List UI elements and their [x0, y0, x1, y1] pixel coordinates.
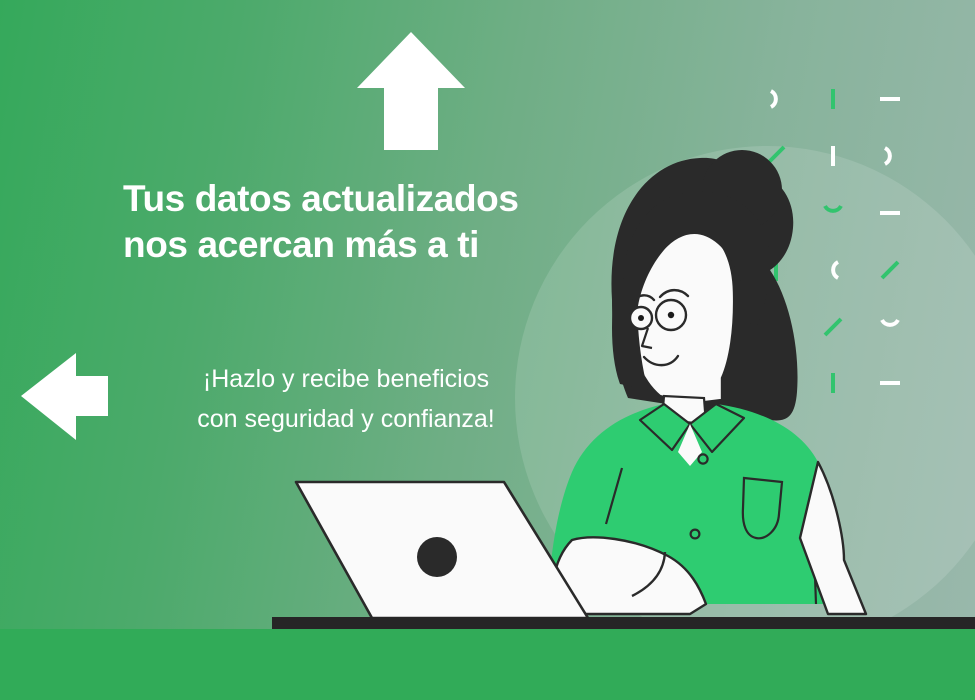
left-arrow-icon	[21, 353, 108, 440]
page-subtitle: ¡Hazlo y recibe beneficios con seguridad…	[136, 360, 556, 439]
promo-banner: Tus datos actualizados nos acercan más a…	[0, 0, 975, 700]
page-title: Tus datos actualizados nos acercan más a…	[123, 176, 723, 267]
up-arrow-icon	[357, 32, 465, 150]
arrow-layer	[0, 0, 975, 700]
